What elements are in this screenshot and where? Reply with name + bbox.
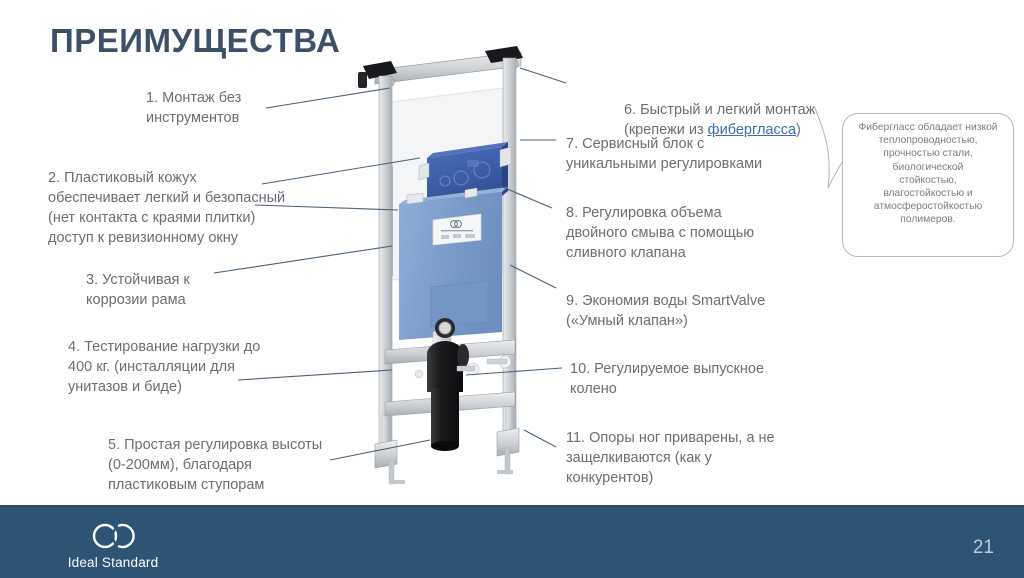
brand-logo: Ideal Standard xyxy=(58,519,168,570)
note-2: 2. Пластиковый кожух обеспечивает легкий… xyxy=(48,168,285,248)
note-6-text-after: ) xyxy=(796,122,801,138)
note-8: 8. Регулировка объема двойного смыва с п… xyxy=(566,203,754,263)
footer-bar: Ideal Standard 21 xyxy=(0,505,1024,578)
note-6: 6. Быстрый и легкий монтаж (крепежи из ф… xyxy=(624,80,815,140)
fiberglass-callout-text: Фибергласс обладает низкой теплопроводно… xyxy=(852,121,1004,227)
page-title: ПРЕИМУЩЕСТВА xyxy=(50,22,340,60)
brand-name: Ideal Standard xyxy=(58,555,168,570)
fiberglass-callout: Фибергласс обладает низкой теплопроводно… xyxy=(842,113,1014,257)
note-9: 9. Экономия воды SmartValve («Умный клап… xyxy=(566,291,765,331)
note-1: 1. Монтаж без инструментов xyxy=(146,88,241,128)
note-3: 3. Устойчивая к коррозии рама xyxy=(86,270,190,310)
ideal-standard-logo-icon xyxy=(85,519,141,553)
page-number: 21 xyxy=(973,537,994,559)
note-10: 10. Регулируемое выпускное колено xyxy=(570,359,764,399)
note-5: 5. Простая регулировка высоты (0-200мм),… xyxy=(108,435,322,495)
note-11: 11. Опоры ног приварены, а не защелкиваю… xyxy=(566,428,775,488)
slide: ПРЕИМУЩЕСТВА xyxy=(0,0,1024,576)
note-4: 4. Тестирование нагрузки до 400 кг. (инс… xyxy=(68,337,260,397)
note-7: 7. Сервисный блок с уникальными регулиро… xyxy=(566,134,762,174)
product-illustration xyxy=(345,44,555,489)
